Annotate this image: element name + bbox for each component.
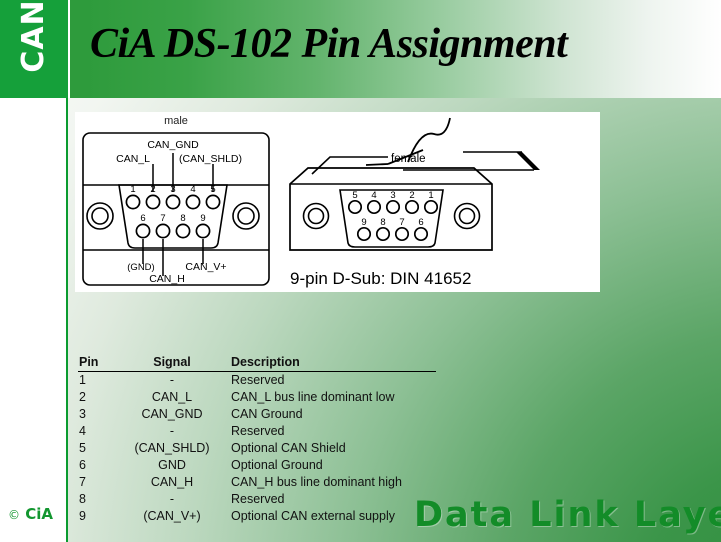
- male-label-can-v-plus: CAN_V+: [185, 261, 226, 273]
- table-row: 5 (CAN_SHLD) Optional CAN Shield: [78, 440, 436, 457]
- male-label-can-shld: (CAN_SHLD): [179, 153, 242, 165]
- cell-pin: 4: [78, 423, 113, 440]
- cell-description: CAN_L bus line dominant low: [231, 389, 436, 406]
- table-header-row: Pin Signal Description: [78, 355, 436, 372]
- table-row: 2 CAN_L CAN_L bus line dominant low: [78, 389, 436, 406]
- can-logo-text: CAN: [16, 0, 52, 86]
- copyright-icon: ©: [8, 508, 20, 522]
- svg-text:8: 8: [180, 213, 185, 224]
- table-row: 8 - Reserved: [78, 491, 436, 508]
- cell-description: CAN Ground: [231, 406, 436, 423]
- cell-signal: -: [113, 491, 231, 508]
- cell-signal: CAN_H: [113, 474, 231, 491]
- svg-text:1: 1: [428, 190, 433, 201]
- cia-brand-text: CiA: [25, 505, 53, 523]
- header-divider: [68, 0, 70, 98]
- table-header-description: Description: [231, 355, 436, 372]
- cell-signal: (CAN_V+): [113, 508, 231, 525]
- male-connector-drawing: male 1: [75, 112, 278, 292]
- svg-text:6: 6: [418, 217, 423, 228]
- svg-text:9: 9: [200, 213, 205, 224]
- table-row: 4 - Reserved: [78, 423, 436, 440]
- left-vertical-rule: [66, 98, 68, 542]
- table-header-pin: Pin: [78, 355, 113, 372]
- male-caption: male: [164, 115, 188, 127]
- svg-text:9: 9: [361, 217, 366, 228]
- page-title: CiA DS-102 Pin Assignment: [90, 20, 567, 68]
- table-row: 6 GND Optional Ground: [78, 457, 436, 474]
- male-label-can-h: CAN_H: [149, 273, 185, 285]
- svg-text:7: 7: [399, 217, 404, 228]
- svg-text:6: 6: [140, 213, 145, 224]
- cell-signal: (CAN_SHLD): [113, 440, 231, 457]
- left-margin-strip: [0, 98, 66, 542]
- svg-text:4: 4: [371, 190, 376, 201]
- cell-pin: 8: [78, 491, 113, 508]
- male-label-can-l: CAN_L: [116, 153, 150, 165]
- table-row: 9 (CAN_V+) Optional CAN external supply: [78, 508, 436, 525]
- table-row: 3 CAN_GND CAN Ground: [78, 406, 436, 423]
- female-connector-panel: 5 4 3 2 1 9 8 7 6 female 9-pi: [278, 112, 600, 292]
- cell-signal: -: [113, 423, 231, 440]
- cell-description: Reserved: [231, 372, 436, 390]
- cell-description: Reserved: [231, 491, 436, 508]
- svg-text:8: 8: [380, 217, 385, 228]
- can-logo: CAN: [0, 0, 68, 98]
- svg-text:5: 5: [352, 190, 357, 201]
- table-row: 1 - Reserved: [78, 372, 436, 390]
- cell-pin: 2: [78, 389, 113, 406]
- male-label-can-gnd: CAN_GND: [147, 139, 199, 151]
- pin-assignment-table: Pin Signal Description 1 - Reserved 2 CA…: [78, 355, 438, 525]
- female-connector-drawing: 5 4 3 2 1 9 8 7 6 female 9-pi: [278, 112, 600, 292]
- table-header-signal: Signal: [113, 355, 231, 372]
- cell-signal: CAN_GND: [113, 406, 231, 423]
- cell-pin: 9: [78, 508, 113, 525]
- cell-description: CAN_H bus line dominant high: [231, 474, 436, 491]
- cell-pin: 5: [78, 440, 113, 457]
- cell-signal: -: [113, 372, 231, 390]
- svg-text:4: 4: [190, 184, 195, 195]
- cia-footer-logo: © CiA: [8, 505, 66, 527]
- slide-canvas: CAN CiA DS-102 Pin Assignment male: [0, 0, 721, 542]
- svg-text:3: 3: [390, 190, 395, 201]
- male-label-gnd: (GND): [127, 262, 154, 273]
- male-connector-panel: male 1: [75, 112, 278, 292]
- cell-signal: GND: [113, 457, 231, 474]
- cell-description: Optional CAN external supply: [231, 508, 436, 525]
- svg-text:7: 7: [160, 213, 165, 224]
- svg-text:1: 1: [130, 184, 135, 195]
- cell-description: Optional Ground: [231, 457, 436, 474]
- table-row: 7 CAN_H CAN_H bus line dominant high: [78, 474, 436, 491]
- cell-pin: 6: [78, 457, 113, 474]
- data-link-layer-wordart: Data Link Layer: [414, 495, 721, 535]
- female-caption: female: [391, 153, 426, 165]
- cell-signal: CAN_L: [113, 389, 231, 406]
- cell-description: Reserved: [231, 423, 436, 440]
- cell-pin: 3: [78, 406, 113, 423]
- cell-description: Optional CAN Shield: [231, 440, 436, 457]
- svg-text:2: 2: [409, 190, 414, 201]
- female-din-note: 9-pin D-Sub: DIN 41652: [290, 269, 471, 288]
- cell-pin: 7: [78, 474, 113, 491]
- cell-pin: 1: [78, 372, 113, 390]
